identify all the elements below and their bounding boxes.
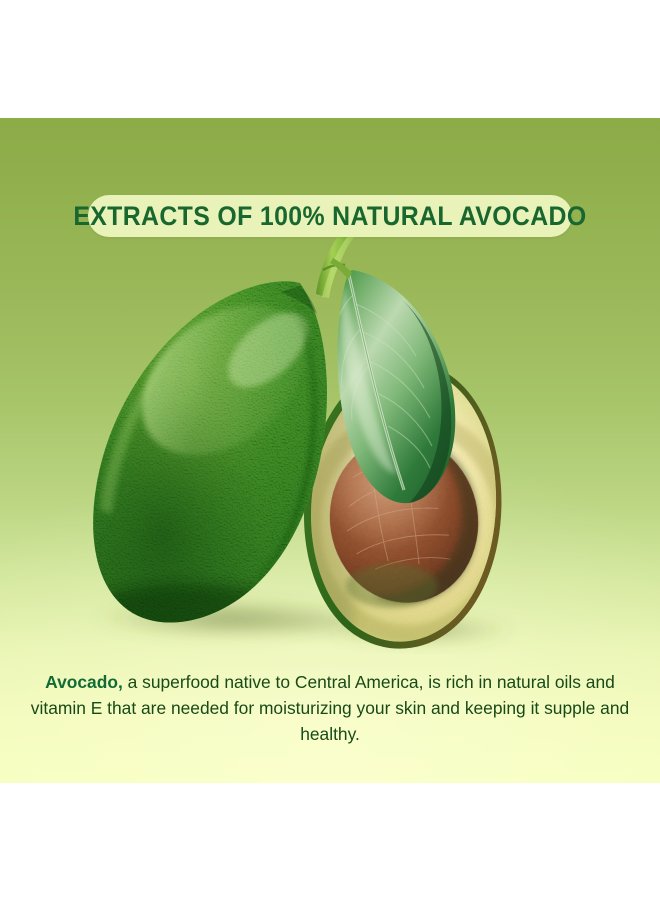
description-text: Avocado, a superfood native to Central A… [26, 669, 634, 747]
banner-badge: EXTRACTS OF 100% NATURAL AVOCADO [88, 195, 572, 237]
banner-text: EXTRACTS OF 100% NATURAL AVOCADO [73, 203, 586, 230]
whole-avocado [78, 275, 335, 652]
description-lead: Avocado, [45, 672, 123, 692]
avocado-ingredient-poster: EXTRACTS OF 100% NATURAL AVOCADO Avocado… [0, 0, 660, 900]
